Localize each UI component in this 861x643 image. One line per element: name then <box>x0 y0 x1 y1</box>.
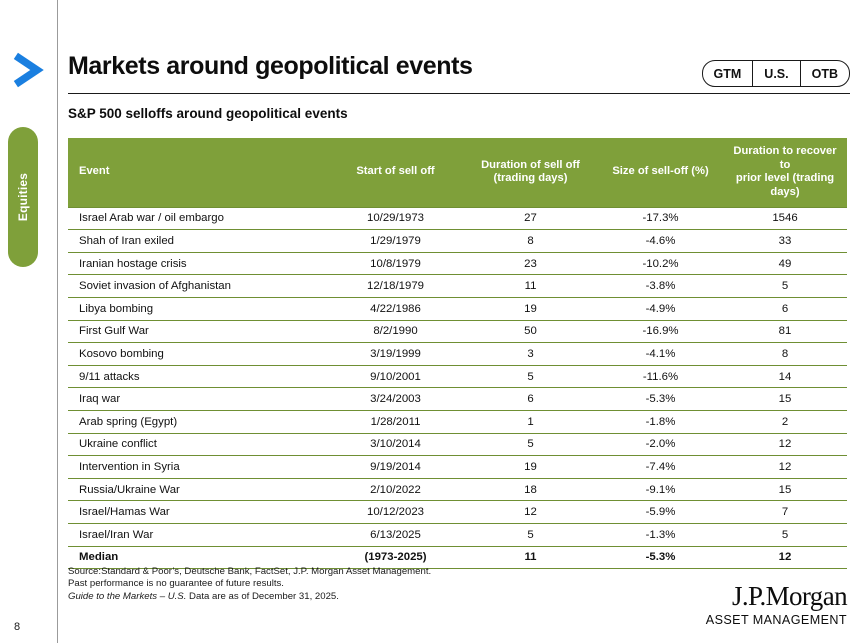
cell-size: -4.1% <box>598 343 723 366</box>
cell-recover: 33 <box>723 230 847 253</box>
cell-size: -10.2% <box>598 252 723 275</box>
cell-duration: 19 <box>463 298 598 321</box>
selloffs-table-container: Event Start of sell off Duration of sell… <box>68 138 847 569</box>
cell-duration: 11 <box>463 275 598 298</box>
column-header-duration-line1: Duration of sell off <box>481 159 580 171</box>
cell-start: 8/2/1990 <box>328 320 463 343</box>
page-number: 8 <box>14 621 20 633</box>
cell-event: Israel Arab war / oil embargo <box>68 207 328 230</box>
cell-start: 3/24/2003 <box>328 388 463 411</box>
cell-event: Shah of Iran exiled <box>68 230 328 253</box>
cell-duration: 8 <box>463 230 598 253</box>
cell-size: -1.3% <box>598 523 723 546</box>
column-header-start: Start of sell off <box>328 138 463 207</box>
cell-size: -7.4% <box>598 456 723 479</box>
cell-event: Kosovo bombing <box>68 343 328 366</box>
jpmorgan-logo: J.P.Morgan ASSET MANAGEMENT <box>706 583 847 627</box>
table-row: Kosovo bombing3/19/19993-4.1%8 <box>68 343 847 366</box>
badge-region: U.S. <box>752 61 799 86</box>
page-title: Markets around geopolitical events <box>68 52 473 81</box>
column-header-duration: Duration of sell off (trading days) <box>463 138 598 207</box>
cell-recover: 12 <box>723 456 847 479</box>
source-note: Source:Standard & Poor’s, Deutsche Bank,… <box>68 566 431 603</box>
cell-recover: 15 <box>723 388 847 411</box>
cell-size: -11.6% <box>598 365 723 388</box>
cell-size: -5.9% <box>598 501 723 524</box>
logo-name: J.P.Morgan <box>706 583 847 610</box>
cell-duration: 3 <box>463 343 598 366</box>
cell-event: First Gulf War <box>68 320 328 343</box>
cell-recover: 2 <box>723 410 847 433</box>
cell-event: Arab spring (Egypt) <box>68 410 328 433</box>
source-line-3: Guide to the Markets – U.S. Data are as … <box>68 591 431 603</box>
cell-event: Libya bombing <box>68 298 328 321</box>
cell-recover: 8 <box>723 343 847 366</box>
table-row: Israel/Iran War6/13/20255-1.3%5 <box>68 523 847 546</box>
table-header-row: Event Start of sell off Duration of sell… <box>68 138 847 207</box>
cell-size: -17.3% <box>598 207 723 230</box>
table-body: Israel Arab war / oil embargo10/29/19732… <box>68 207 847 569</box>
table-header: Event Start of sell off Duration of sell… <box>68 138 847 207</box>
badge-otb: OTB <box>800 61 849 86</box>
column-header-size-line1: Size of sell-off (%) <box>612 165 708 177</box>
cell-recover: 1546 <box>723 207 847 230</box>
column-header-duration-line2: (trading days) <box>494 172 568 184</box>
cell-recover: 12 <box>723 546 847 569</box>
cell-start: 10/8/1979 <box>328 252 463 275</box>
cell-size: -16.9% <box>598 320 723 343</box>
cell-duration: 50 <box>463 320 598 343</box>
cell-duration: 5 <box>463 365 598 388</box>
chart-subtitle: S&P 500 selloffs around geopolitical eve… <box>68 106 348 121</box>
table-row: Israel/Hamas War10/12/202312-5.9%7 <box>68 501 847 524</box>
cell-recover: 6 <box>723 298 847 321</box>
selloffs-table: Event Start of sell off Duration of sell… <box>68 138 847 569</box>
table-row: Arab spring (Egypt)1/28/20111-1.8%2 <box>68 410 847 433</box>
title-divider <box>68 93 850 94</box>
source-line-2: Past performance is no guarantee of futu… <box>68 578 431 590</box>
cell-duration: 1 <box>463 410 598 433</box>
cell-recover: 49 <box>723 252 847 275</box>
cell-event: Ukraine conflict <box>68 433 328 456</box>
cell-recover: 5 <box>723 275 847 298</box>
cell-size: -2.0% <box>598 433 723 456</box>
cell-start: 9/10/2001 <box>328 365 463 388</box>
cell-duration: 11 <box>463 546 598 569</box>
sidebar-item-equities[interactable]: Equities <box>8 127 38 267</box>
column-header-recover: Duration to recover to prior level (trad… <box>723 138 847 207</box>
badge-gtm: GTM <box>703 61 753 86</box>
chevron-right-icon <box>10 51 48 89</box>
cell-duration: 12 <box>463 501 598 524</box>
cell-size: -5.3% <box>598 546 723 569</box>
source-guide-date: Data are as of December 31, 2025. <box>186 591 339 602</box>
table-row: Russia/Ukraine War2/10/202218-9.1%15 <box>68 478 847 501</box>
table-row: Shah of Iran exiled1/29/19798-4.6%33 <box>68 230 847 253</box>
table-row: Soviet invasion of Afghanistan12/18/1979… <box>68 275 847 298</box>
cell-start: 4/22/1986 <box>328 298 463 321</box>
cell-recover: 5 <box>723 523 847 546</box>
cell-size: -1.8% <box>598 410 723 433</box>
column-header-size: Size of sell-off (%) <box>598 138 723 207</box>
cell-recover: 14 <box>723 365 847 388</box>
cell-size: -9.1% <box>598 478 723 501</box>
table-row: Israel Arab war / oil embargo10/29/19732… <box>68 207 847 230</box>
cell-duration: 6 <box>463 388 598 411</box>
column-header-event-line1: Event <box>79 165 109 177</box>
cell-event: Iraq war <box>68 388 328 411</box>
cell-size: -3.8% <box>598 275 723 298</box>
cell-recover: 15 <box>723 478 847 501</box>
left-vertical-divider <box>57 0 58 643</box>
cell-size: -4.6% <box>598 230 723 253</box>
table-row: First Gulf War8/2/199050-16.9%81 <box>68 320 847 343</box>
cell-start: 3/10/2014 <box>328 433 463 456</box>
column-header-start-line1: Start of sell off <box>356 165 434 177</box>
cell-start: 10/29/1973 <box>328 207 463 230</box>
cell-size: -4.9% <box>598 298 723 321</box>
cell-recover: 7 <box>723 501 847 524</box>
cell-duration: 23 <box>463 252 598 275</box>
cell-duration: 18 <box>463 478 598 501</box>
cell-recover: 81 <box>723 320 847 343</box>
table-row: Iraq war3/24/20036-5.3%15 <box>68 388 847 411</box>
slide-canvas: Equities Markets around geopolitical eve… <box>0 0 861 643</box>
sidebar-item-label: Equities <box>8 127 38 267</box>
cell-size: -5.3% <box>598 388 723 411</box>
cell-start: 3/19/1999 <box>328 343 463 366</box>
cell-recover: 12 <box>723 433 847 456</box>
cell-duration: 5 <box>463 523 598 546</box>
gtm-badge: GTM U.S. OTB <box>702 60 850 87</box>
table-row: 9/11 attacks9/10/20015-11.6%14 <box>68 365 847 388</box>
cell-event: Soviet invasion of Afghanistan <box>68 275 328 298</box>
cell-event: Intervention in Syria <box>68 456 328 479</box>
table-row: Iranian hostage crisis10/8/197923-10.2%4… <box>68 252 847 275</box>
cell-event: Iranian hostage crisis <box>68 252 328 275</box>
table-row: Intervention in Syria9/19/201419-7.4%12 <box>68 456 847 479</box>
column-header-recover-line2: prior level (trading days) <box>736 172 834 198</box>
cell-start: 2/10/2022 <box>328 478 463 501</box>
cell-event: Russia/Ukraine War <box>68 478 328 501</box>
cell-start: 1/29/1979 <box>328 230 463 253</box>
logo-subtitle: ASSET MANAGEMENT <box>706 614 847 627</box>
cell-duration: 5 <box>463 433 598 456</box>
cell-start: 6/13/2025 <box>328 523 463 546</box>
source-line-1: Source:Standard & Poor’s, Deutsche Bank,… <box>68 566 431 578</box>
cell-event: Israel/Hamas War <box>68 501 328 524</box>
table-row: Ukraine conflict3/10/20145-2.0%12 <box>68 433 847 456</box>
cell-duration: 27 <box>463 207 598 230</box>
cell-duration: 19 <box>463 456 598 479</box>
table-row: Libya bombing4/22/198619-4.9%6 <box>68 298 847 321</box>
column-header-recover-line1: Duration to recover to <box>733 145 836 171</box>
cell-start: 12/18/1979 <box>328 275 463 298</box>
cell-start: 10/12/2023 <box>328 501 463 524</box>
cell-start: 9/19/2014 <box>328 456 463 479</box>
cell-start: 1/28/2011 <box>328 410 463 433</box>
cell-event: 9/11 attacks <box>68 365 328 388</box>
cell-event: Israel/Iran War <box>68 523 328 546</box>
source-guide-title: Guide to the Markets – U.S. <box>68 591 186 602</box>
column-header-event: Event <box>68 138 328 207</box>
